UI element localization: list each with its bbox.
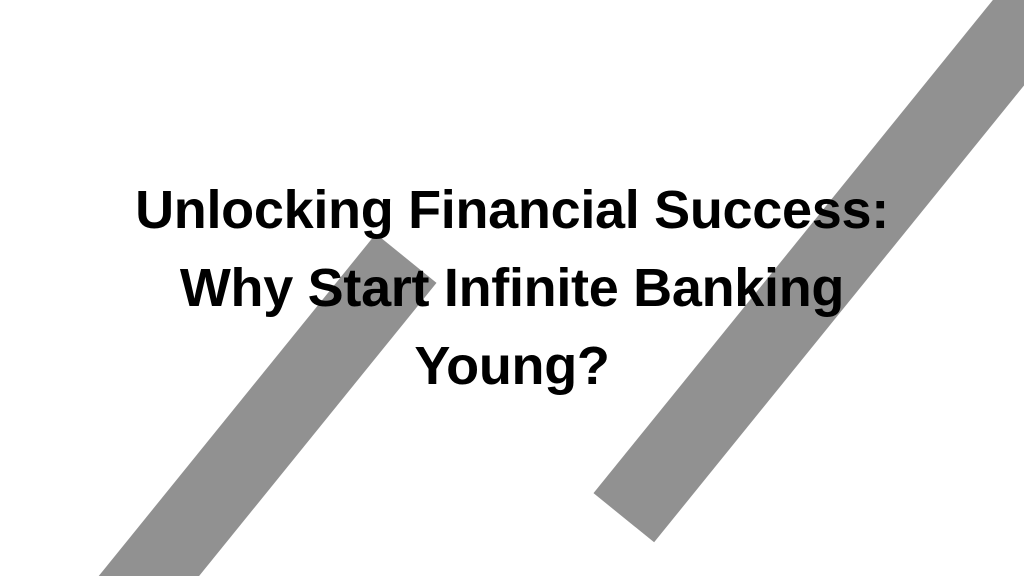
title-slide: Unlocking Financial Success: Why Start I… bbox=[0, 0, 1024, 576]
title-line-2: Why Start Infinite Banking bbox=[112, 249, 912, 327]
title-line-3: Young? bbox=[112, 327, 912, 405]
title-line-1: Unlocking Financial Success: bbox=[112, 171, 912, 249]
slide-title-block: Unlocking Financial Success: Why Start I… bbox=[0, 0, 1024, 576]
